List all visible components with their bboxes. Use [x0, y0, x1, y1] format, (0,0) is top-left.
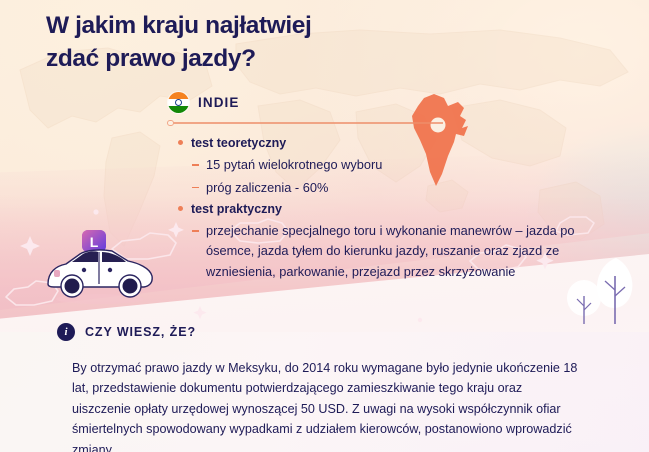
list-item: próg zaliczenia - 60% — [192, 178, 588, 198]
tree-illustration — [560, 252, 644, 328]
page-title: W jakim kraju najłatwiej zdać prawo jazd… — [46, 10, 466, 75]
list-item: przejechanie specjalnego toru i wykonani… — [192, 221, 588, 282]
did-you-know-header: i CZY WIESZ, ŻE? — [57, 323, 196, 341]
list-item: 15 pytań wielokrotnego wyboru — [192, 155, 588, 175]
country-name: INDIE — [198, 95, 240, 110]
bullet-dot-icon — [178, 206, 183, 211]
dash-icon — [192, 187, 199, 189]
page-title-line-1: W jakim kraju najłatwiej — [46, 10, 466, 43]
did-you-know-label: CZY WIESZ, ŻE? — [85, 325, 196, 339]
did-you-know-paragraph: By otrzymać prawo jazdy w Meksyku, do 20… — [72, 358, 584, 452]
divider-dot — [167, 120, 174, 127]
requirement-label: test praktyczny — [191, 200, 282, 219]
dash-icon — [192, 230, 199, 232]
country-divider — [168, 122, 443, 124]
svg-text:L: L — [90, 234, 99, 250]
list-item: test praktyczny — [178, 200, 588, 219]
requirement-detail: próg zaliczenia - 60% — [206, 178, 328, 198]
requirement-label: test teoretyczny — [191, 134, 286, 153]
requirements-list: test teoretyczny 15 pytań wielokrotnego … — [178, 132, 588, 282]
bullet-dot-icon — [178, 140, 183, 145]
infographic-canvas: W jakim kraju najłatwiej zdać prawo jazd… — [0, 0, 649, 452]
page-title-line-2: zdać prawo jazdy? — [46, 43, 466, 76]
info-icon: i — [57, 323, 75, 341]
requirement-detail: 15 pytań wielokrotnego wyboru — [206, 155, 382, 175]
list-item: test teoretyczny — [178, 134, 588, 153]
requirement-detail: przejechanie specjalnego toru i wykonani… — [206, 221, 588, 282]
india-flag-icon — [168, 92, 189, 113]
driving-school-car-illustration: L — [40, 228, 160, 306]
dash-icon — [192, 164, 199, 166]
did-you-know-body: By otrzymać prawo jazdy w Meksyku, do 20… — [72, 358, 584, 452]
country-header: INDIE — [168, 92, 240, 113]
